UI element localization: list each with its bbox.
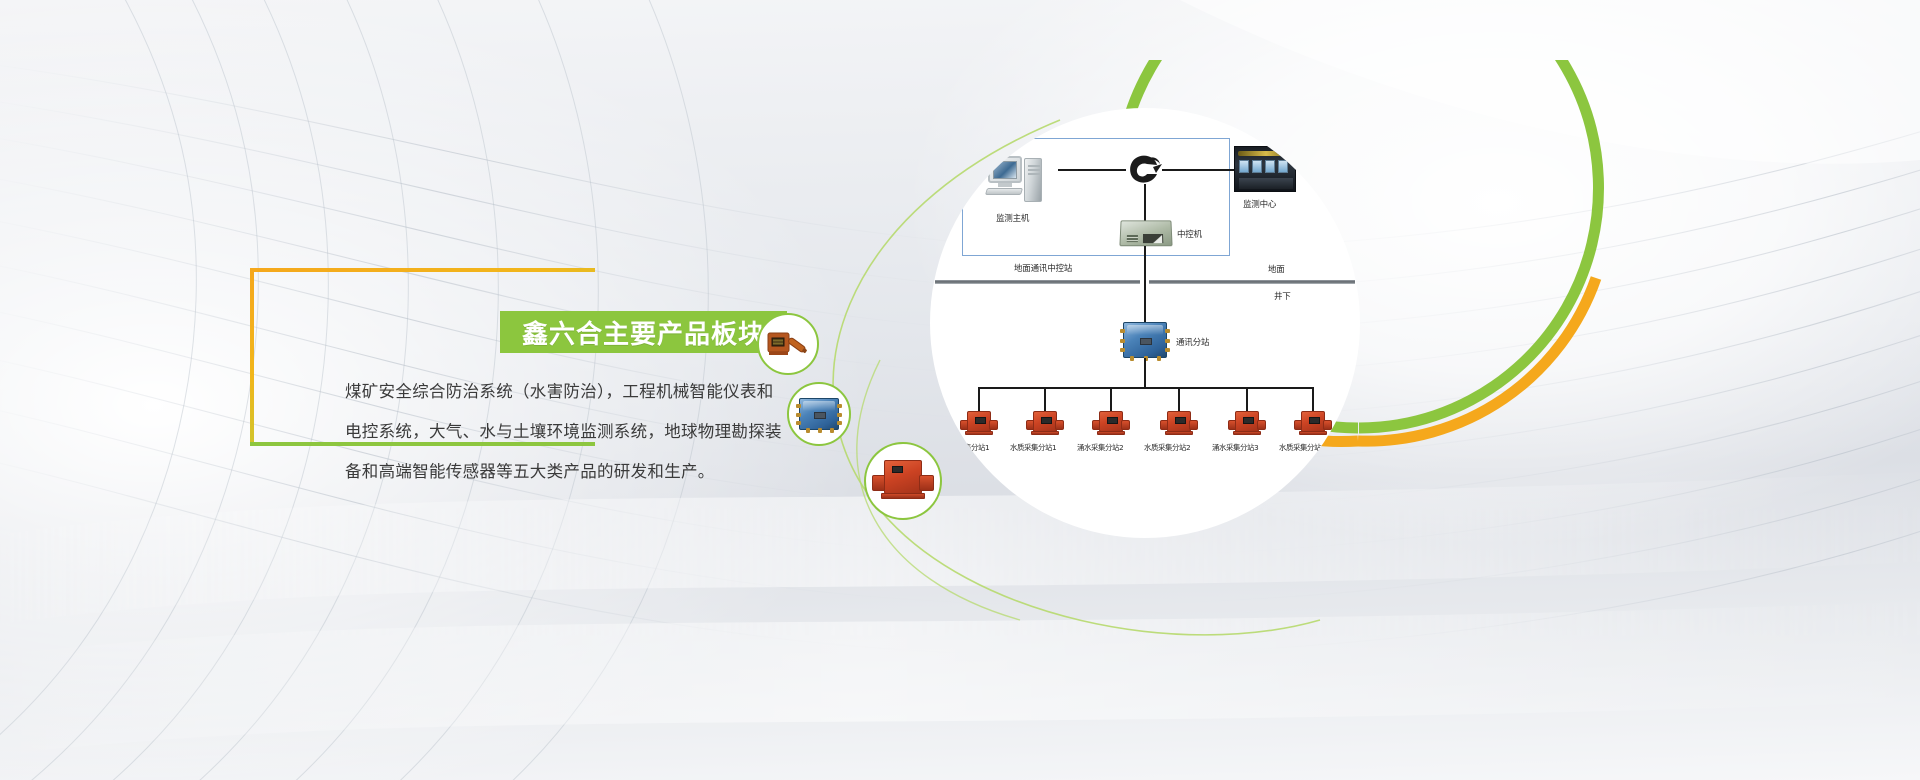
system-diagram-disc: 监测主机 监测中心 xyxy=(930,108,1360,538)
station-label-6: 水质采集分站3 xyxy=(1279,442,1325,453)
monitor-host-icon xyxy=(988,156,1046,204)
comm-substation-label: 通讯分站 xyxy=(1176,336,1209,348)
page-title-banner: 鑫六合主要产品板块 xyxy=(500,311,787,353)
page-title: 鑫六合主要产品板块 xyxy=(522,314,765,351)
wire-drop-1 xyxy=(978,387,980,411)
wire-drop-6 xyxy=(1312,387,1314,411)
brown-sensor-icon xyxy=(766,329,810,359)
station-icon-3 xyxy=(1092,411,1130,437)
station-bus-line xyxy=(978,387,1314,389)
blue-substation-icon xyxy=(799,398,839,430)
station-icon-4 xyxy=(1160,411,1198,437)
wire-control-to-substation xyxy=(1144,246,1146,324)
satellite-red-collector xyxy=(864,442,942,520)
central-control-icon xyxy=(1119,220,1172,246)
station-label-5: 涌水采集分站3 xyxy=(1212,442,1258,453)
monitor-center-icon xyxy=(1234,146,1296,192)
satellite-brown-sensor xyxy=(757,313,819,375)
red-collector-icon xyxy=(872,460,934,502)
wire-drop-3 xyxy=(1110,387,1112,411)
banner-stage: 鑫六合主要产品板块 煤矿安全综合防治系统（水害防治），工程机械智能仪表和 电控系… xyxy=(0,0,1920,780)
station-icon-5 xyxy=(1228,411,1266,437)
wire-substation-to-bus xyxy=(1144,358,1146,388)
station-icon-6 xyxy=(1294,411,1332,437)
central-control-label: 中控机 xyxy=(1177,228,1202,240)
monitor-host-label: 监测主机 xyxy=(996,212,1029,224)
comm-substation-icon xyxy=(1123,322,1167,358)
ground-station-frame-label: 地面通讯中控站 xyxy=(1014,262,1072,274)
satellite-blue-substation xyxy=(787,382,851,446)
wire-drop-4 xyxy=(1178,387,1180,411)
wire-drop-2 xyxy=(1044,387,1046,411)
monitor-center-label: 监测中心 xyxy=(1243,198,1276,210)
wire-host-to-network xyxy=(1058,169,1126,171)
station-label-1: 涌水采集分站1 xyxy=(943,442,989,453)
system-diagram: 监测主机 监测中心 xyxy=(930,108,1360,538)
wire-network-to-center xyxy=(1162,169,1238,171)
surface-side-label: 地面 xyxy=(1268,263,1285,275)
ground-level-line-left xyxy=(935,280,1140,284)
station-label-4: 水质采集分站2 xyxy=(1144,442,1190,453)
station-icon-1 xyxy=(960,411,998,437)
wire-drop-5 xyxy=(1246,387,1248,411)
station-label-3: 涌水采集分站2 xyxy=(1077,442,1123,453)
ground-level-line-right xyxy=(1149,280,1355,284)
station-label-2: 水质采集分站1 xyxy=(1010,442,1056,453)
underground-side-label: 井下 xyxy=(1274,290,1291,302)
wire-network-to-control xyxy=(1144,184,1146,222)
station-icon-2 xyxy=(1026,411,1064,437)
